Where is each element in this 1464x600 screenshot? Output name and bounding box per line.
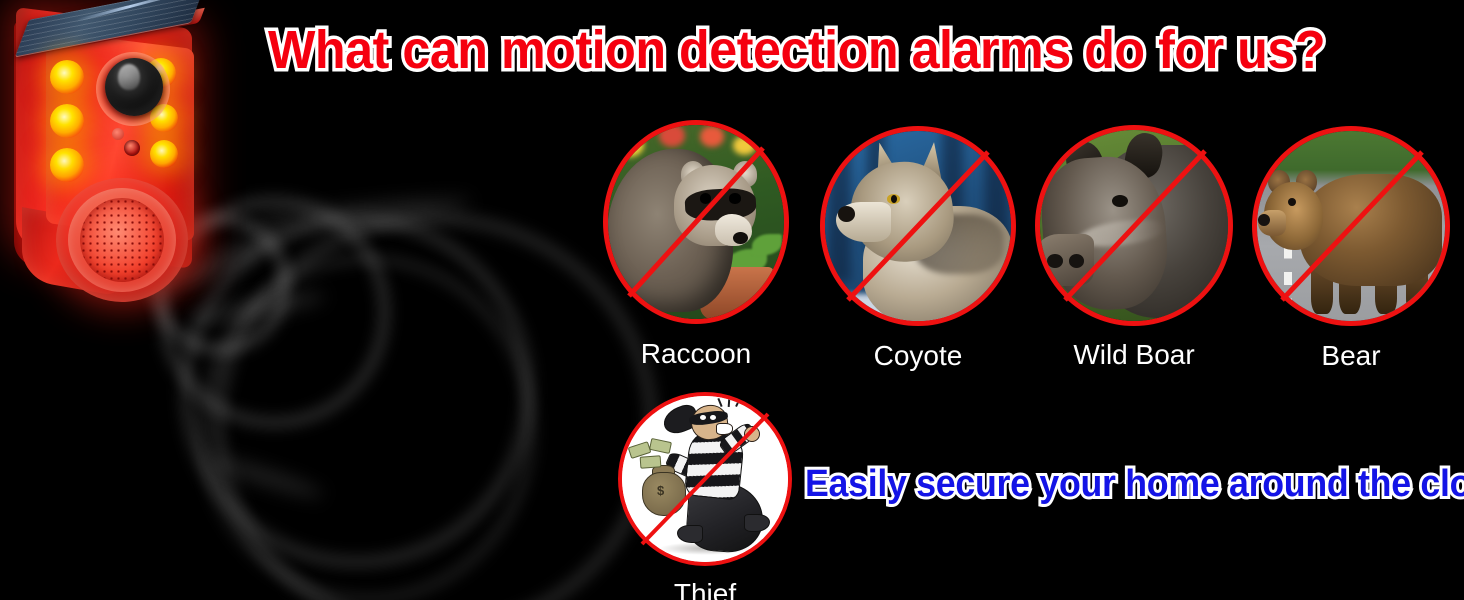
banknote-icon	[649, 438, 672, 454]
deterred-label-coyote: Coyote	[874, 340, 963, 372]
deterred-item-bear: Bear	[1252, 126, 1450, 386]
light-sensor-icon	[112, 128, 124, 140]
page-title: What can motion detection alarms do for …	[268, 20, 1375, 82]
deterred-label-wild-boar: Wild Boar	[1073, 339, 1194, 371]
deterred-item-coyote: Coyote	[820, 126, 1016, 386]
deterred-item-wild-boar: Wild Boar	[1035, 125, 1233, 385]
thief-illustration	[618, 392, 792, 566]
thief-scene	[618, 392, 792, 566]
bear-photo	[1252, 126, 1450, 326]
led-lamp-icon	[50, 148, 84, 182]
deterred-label-thief: Thief	[674, 578, 736, 600]
led-lamp-icon	[150, 140, 178, 168]
screw-icon	[124, 140, 140, 156]
speaker-grille-icon	[80, 198, 164, 282]
coyote-photo	[820, 126, 1016, 326]
banknote-icon	[639, 455, 661, 468]
money-bag-icon	[642, 472, 686, 516]
bear-scene	[1252, 126, 1450, 326]
deterred-item-raccoon: Raccoon	[603, 120, 789, 380]
tagline-text: Easily secure your home around the clock…	[805, 462, 1464, 508]
raccoon-scene	[603, 120, 789, 324]
led-lamp-icon	[50, 60, 84, 94]
wild-boar-scene	[1035, 125, 1233, 326]
banner-canvas: What can motion detection alarms do for …	[0, 0, 1464, 600]
wild-boar-photo	[1035, 125, 1233, 326]
deterred-item-thief: Thief	[618, 392, 792, 598]
coyote-scene	[820, 126, 1016, 326]
deterred-label-bear: Bear	[1321, 340, 1380, 372]
deterred-label-raccoon: Raccoon	[641, 338, 752, 370]
motion-sensor-highlight	[118, 64, 140, 90]
solar-motion-alarm-device	[0, 0, 260, 320]
raccoon-photo	[603, 120, 789, 324]
led-lamp-icon	[50, 104, 84, 138]
